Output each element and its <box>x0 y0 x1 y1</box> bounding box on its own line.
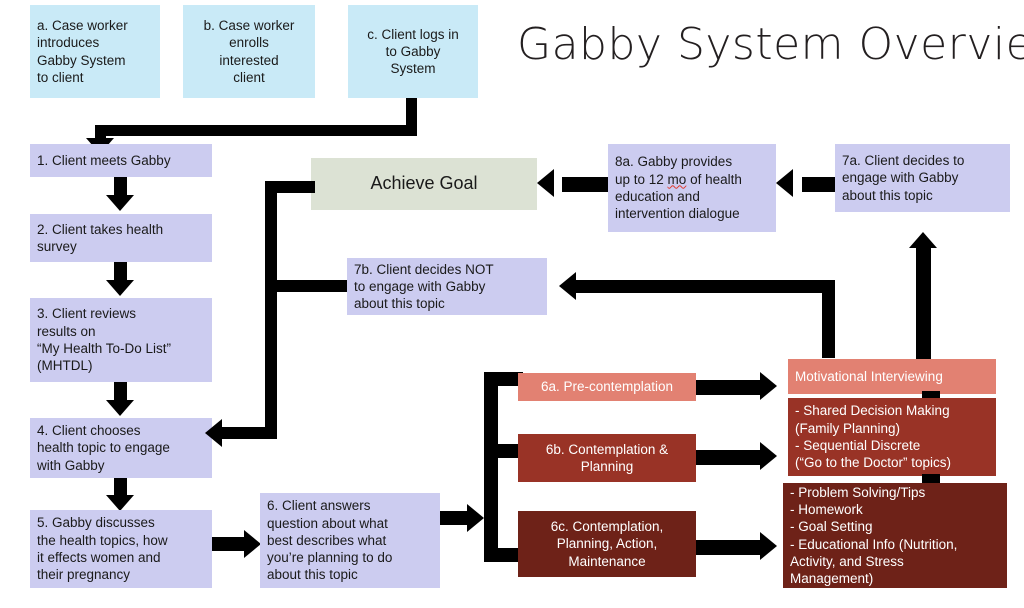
flow-box-3: 3. Client reviews results on “My Health … <box>30 298 212 382</box>
flow-box-4: 4. Client chooses health topic to engage… <box>30 418 212 478</box>
arrow-5-to-6-head <box>244 530 261 558</box>
stage-box-6b: 6b. Contemplation & Planning <box>518 434 696 482</box>
arrow-6-to-bus-shaft <box>440 511 470 525</box>
arrow-3-to-4-head <box>106 400 134 416</box>
page-title: Gabby System Overview <box>517 19 1024 70</box>
arrow-7a-to-8a-head <box>776 169 793 197</box>
arrow-interventions-to-7a-shaft <box>916 248 931 360</box>
return-trunk-arrowhead-to-4 <box>205 419 222 447</box>
intervention-link-sdm-tips <box>922 474 940 483</box>
achieve-goal-box: Achieve Goal <box>311 158 537 210</box>
arrow-6a-to-mi-head <box>760 372 777 400</box>
stage-box-6a: 6a. Pre-contemplation <box>518 373 696 401</box>
arrow-1-to-2-head <box>106 195 134 211</box>
arrow-4-to-5-head <box>106 495 134 511</box>
return-trunk-bottom-horizontal <box>222 427 277 439</box>
arrow-bus-to-7b-vertical <box>822 280 835 358</box>
arrow-2-to-3-shaft <box>114 262 127 282</box>
stage-box-6c: 6c. Contemplation, Planning, Action, Mai… <box>518 511 696 577</box>
arrow-6a-to-mi-shaft <box>696 380 762 395</box>
intake-box-a: a. Case worker introduces Gabby System t… <box>30 5 160 98</box>
connector-c-to-1-horizontal <box>95 125 417 136</box>
engage-box-7a: 7a. Client decides to engage with Gabby … <box>835 144 1010 212</box>
decline-box-7b: 7b. Client decides NOT to engage with Ga… <box>347 258 547 315</box>
diagram-canvas: Gabby System Overview a. Case worker int… <box>0 0 1024 608</box>
intervention-box-motivational-interviewing: Motivational Interviewing <box>788 359 996 394</box>
arrow-6b-to-sdm-shaft <box>696 450 762 465</box>
arrow-bus-to-7b-shaft <box>576 280 834 293</box>
arrow-7a-to-8a-shaft <box>802 177 835 192</box>
arrow-2-to-3-head <box>106 280 134 296</box>
intervention-box-problem-solving: - Problem Solving/Tips - Homework - Goal… <box>783 483 1007 588</box>
education-label: 8a. Gabby provides up to 12 mo of health… <box>615 153 742 222</box>
arrow-bus-to-7b-head <box>559 272 576 300</box>
arrow-interventions-to-7a-head <box>909 232 937 248</box>
intervention-box-shared-decision-making: - Shared Decision Making (Family Plannin… <box>788 398 996 476</box>
arrow-8a-to-goal-shaft <box>562 177 608 192</box>
education-label-misspelled: mo <box>668 172 687 187</box>
education-box-8a: 8a. Gabby provides up to 12 mo of health… <box>608 144 776 232</box>
return-trunk-vertical <box>265 181 277 439</box>
flow-box-5: 5. Gabby discusses the health topics, ho… <box>30 510 212 588</box>
stage-bus-vertical <box>484 372 498 562</box>
intake-box-c: c. Client logs in to Gabby System <box>348 5 478 98</box>
question-box-6: 6. Client answers question about what be… <box>260 493 440 588</box>
arrow-8a-to-goal-head <box>537 169 554 197</box>
arrow-6c-to-tips-head <box>760 532 777 560</box>
arrow-6c-to-tips-shaft <box>696 540 762 555</box>
arrow-3-to-4-shaft <box>114 382 127 402</box>
flow-box-1: 1. Client meets Gabby <box>30 144 212 177</box>
flow-box-2: 2. Client takes health survey <box>30 214 212 262</box>
arrow-5-to-6-shaft <box>212 537 245 551</box>
arrow-6-to-bus-head <box>467 504 484 532</box>
arrow-6b-to-sdm-head <box>760 442 777 470</box>
return-trunk-branch-to-7b <box>265 280 347 292</box>
intake-box-b: b. Case worker enrolls interested client <box>183 5 315 98</box>
